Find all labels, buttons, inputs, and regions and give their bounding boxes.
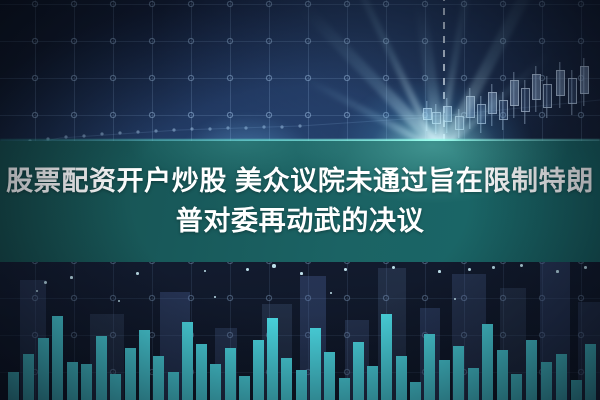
banner-image: 股票配资开户炒股 美众议院未通过旨在限制特朗 普对委再动武的决议 — [0, 0, 600, 400]
vignette-overlay — [0, 0, 600, 400]
